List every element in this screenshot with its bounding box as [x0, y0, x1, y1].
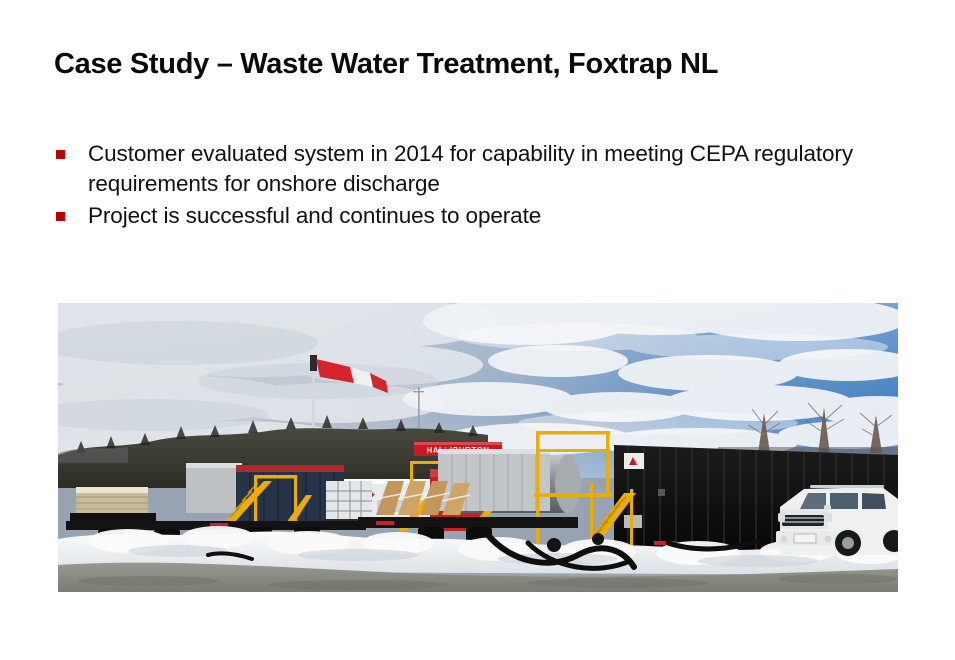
site-photograph: HALLIBURTON [58, 303, 898, 592]
list-item-label: Customer evaluated system in 2014 for ca… [88, 139, 906, 198]
bullet-list: Customer evaluated system in 2014 for ca… [56, 139, 916, 234]
site-photograph-graphic: HALLIBURTON [58, 303, 898, 592]
slide: Case Study – Waste Water Treatment, Foxt… [0, 0, 955, 660]
list-item-label: Project is successful and continues to o… [88, 201, 541, 231]
square-bullet-icon [56, 212, 65, 221]
square-bullet-icon [56, 150, 65, 159]
page-title: Case Study – Waste Water Treatment, Foxt… [54, 48, 914, 81]
list-item: Project is successful and continues to o… [56, 201, 916, 231]
list-item: Customer evaluated system in 2014 for ca… [56, 139, 916, 198]
